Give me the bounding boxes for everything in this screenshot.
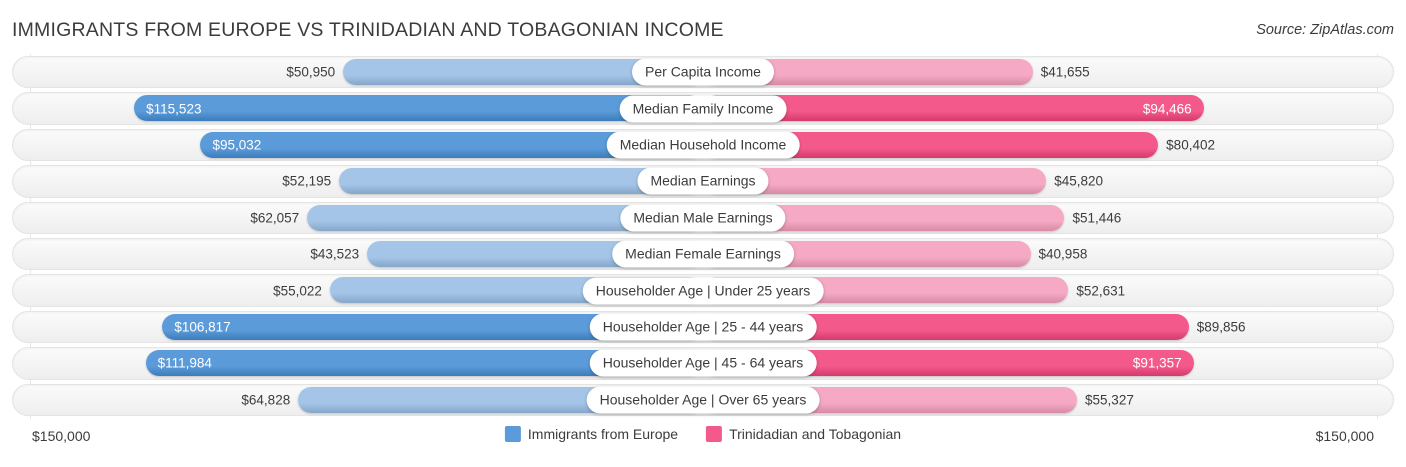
source-attribution: Source: ZipAtlas.com: [1256, 22, 1394, 38]
category-label: Median Male Earnings: [620, 204, 785, 231]
value-label-left: $115,523: [146, 101, 201, 116]
category-label: Householder Age | 45 - 64 years: [590, 350, 817, 377]
value-label-left: $111,984: [158, 356, 212, 371]
chart-legend: Immigrants from EuropeTrinidadian and To…: [505, 426, 901, 442]
value-label-right: $41,655: [1041, 65, 1090, 80]
legend-swatch-immigrants-from-europe: [505, 426, 521, 442]
value-label-right: $40,958: [1039, 247, 1088, 262]
value-label-left: $64,828: [241, 392, 290, 407]
legend-item[interactable]: Immigrants from Europe: [505, 426, 678, 442]
axis-label-left-max: $150,000: [32, 428, 90, 444]
value-label-right: $52,631: [1076, 283, 1125, 298]
value-label-right: $94,466: [1143, 101, 1192, 116]
diverging-bar-chart: $50,950$41,655Per Capita Income$115,523$…: [12, 54, 1394, 419]
chart-row: $111,984$91,357Householder Age | 45 - 64…: [12, 345, 1394, 381]
chart-page: IMMIGRANTS FROM EUROPE VS TRINIDADIAN AN…: [0, 0, 1406, 467]
value-label-left: $55,022: [273, 283, 322, 298]
value-label-right: $91,357: [1133, 356, 1182, 371]
chart-footer: $150,000 Immigrants from EuropeTrinidadi…: [12, 419, 1394, 461]
value-label-left: $106,817: [174, 319, 230, 334]
category-label: Median Female Earnings: [612, 241, 794, 268]
value-label-right: $89,856: [1197, 319, 1246, 334]
chart-row: $106,817$89,856Householder Age | 25 - 44…: [12, 309, 1394, 345]
legend-item-label: Trinidadian and Tobagonian: [729, 426, 901, 442]
category-label: Householder Age | Over 65 years: [587, 386, 820, 413]
chart-row: $55,022$52,631Householder Age | Under 25…: [12, 272, 1394, 308]
bar-immigrants-from-europe[interactable]: [134, 95, 703, 121]
value-label-left: $50,950: [286, 65, 335, 80]
value-label-right: $51,446: [1072, 210, 1121, 225]
value-label-left: $62,057: [250, 210, 299, 225]
chart-row: $64,828$55,327Householder Age | Over 65 …: [12, 382, 1394, 418]
chart-header: IMMIGRANTS FROM EUROPE VS TRINIDADIAN AN…: [0, 0, 1406, 54]
chart-row: $115,523$94,466Median Family Income: [12, 90, 1394, 126]
value-label-left: $52,195: [282, 174, 331, 189]
chart-row: $95,032$80,402Median Household Income: [12, 127, 1394, 163]
chart-row: $52,195$45,820Median Earnings: [12, 163, 1394, 199]
value-label-left: $43,523: [310, 247, 359, 262]
category-label: Householder Age | Under 25 years: [583, 277, 824, 304]
chart-row: $62,057$51,446Median Male Earnings: [12, 200, 1394, 236]
value-label-right: $55,327: [1085, 392, 1134, 407]
chart-row: $50,950$41,655Per Capita Income: [12, 54, 1394, 90]
category-label: Per Capita Income: [632, 59, 774, 86]
value-label-left: $95,032: [212, 137, 261, 152]
legend-swatch-trinidadian-and-tobagonian: [706, 426, 722, 442]
axis-label-right-max: $150,000: [1316, 428, 1374, 444]
page-title: IMMIGRANTS FROM EUROPE VS TRINIDADIAN AN…: [12, 19, 724, 42]
category-label: Householder Age | 25 - 44 years: [590, 313, 817, 340]
category-label: Median Earnings: [637, 168, 768, 195]
category-label: Median Family Income: [620, 95, 787, 122]
category-label: Median Household Income: [607, 131, 800, 158]
chart-row: $43,523$40,958Median Female Earnings: [12, 236, 1394, 272]
legend-item-label: Immigrants from Europe: [528, 426, 678, 442]
legend-item[interactable]: Trinidadian and Tobagonian: [706, 426, 901, 442]
value-label-right: $45,820: [1054, 174, 1103, 189]
value-label-right: $80,402: [1166, 137, 1215, 152]
